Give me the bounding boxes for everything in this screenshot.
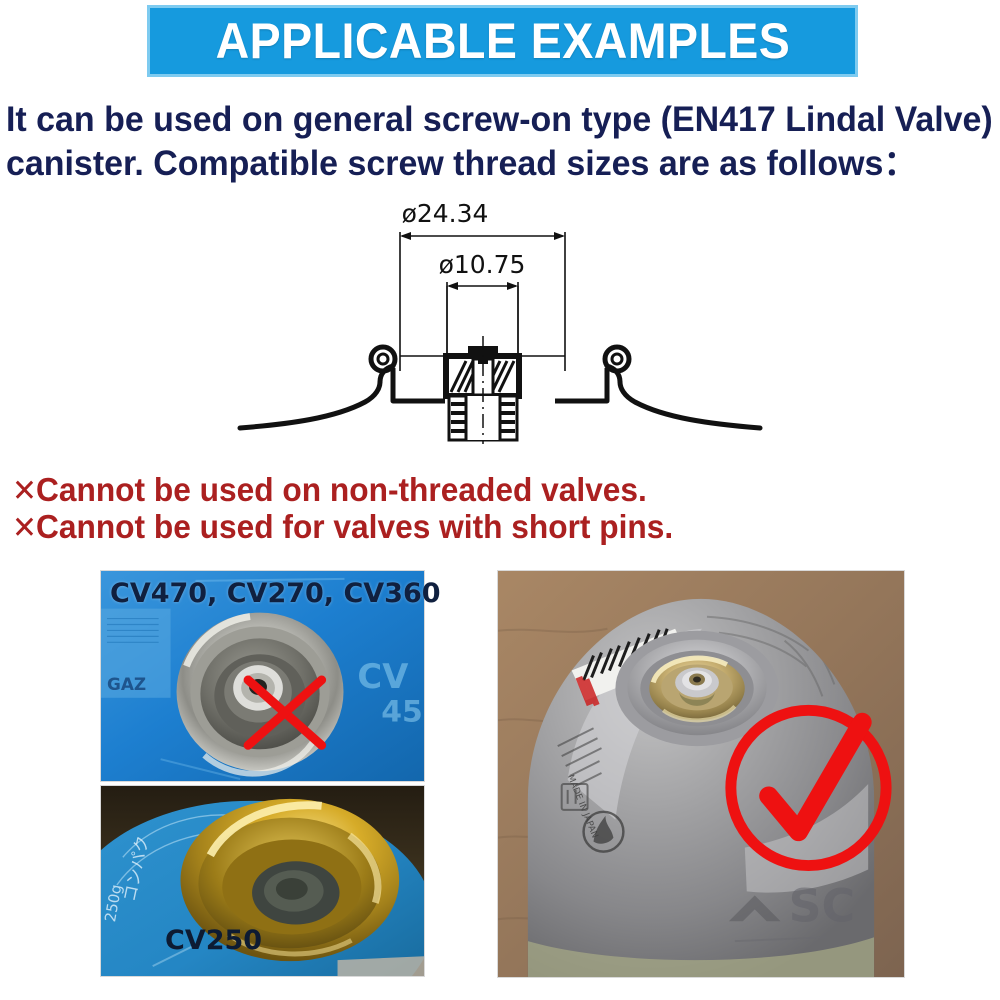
page-title: APPLICABLE EXAMPLES <box>215 12 790 70</box>
warning-list: ✕Cannot be used on non-threaded valves. … <box>12 472 912 546</box>
diagram-svg: ø24.34 ø10.75 <box>230 196 770 446</box>
photo-incompatible-cv250: コンパク 250g <box>100 785 425 977</box>
intro-paragraph: It can be used on general screw-on type … <box>6 98 996 186</box>
arrow-left-outer <box>400 232 411 240</box>
photo-right-svg: MADE IN JAPAN SC <box>498 571 904 977</box>
cross-mark-icon: ✕ <box>12 510 36 545</box>
side-text-45: 45 <box>381 695 422 730</box>
arrow-left-inner <box>447 282 458 290</box>
intro-line-1: It can be used on general screw-on type … <box>6 98 966 142</box>
warning-text-1: Cannot be used on non-threaded valves. <box>36 471 647 508</box>
brand-text: GAZ <box>107 674 146 694</box>
valve-technical-diagram: ø24.34 ø10.75 <box>230 196 770 446</box>
warning-line-1: ✕Cannot be used on non-threaded valves. <box>12 472 876 509</box>
warning-line-2: ✕Cannot be used for valves with short pi… <box>12 509 876 546</box>
dimension-outer-label: ø24.34 <box>402 199 489 228</box>
photo-incompatible-cv-multi: GAZ CV 45 <box>100 570 425 782</box>
arrow-right-outer <box>554 232 565 240</box>
svg-text:SC: SC <box>789 879 856 932</box>
warning-text-2: Cannot be used for valves with short pin… <box>36 508 673 545</box>
photo-left-bottom-svg: コンパク 250g <box>101 786 424 976</box>
header-banner: APPLICABLE EXAMPLES <box>150 8 855 74</box>
dimension-inner-label: ø10.75 <box>439 250 526 279</box>
arrow-right-inner <box>507 282 518 290</box>
photo-left-top-svg: GAZ CV 45 <box>101 571 424 781</box>
cross-mark-icon: ✕ <box>12 473 36 508</box>
intro-line-2: canister. Compatible screw thread sizes … <box>6 142 966 186</box>
side-text-cv: CV <box>357 657 408 696</box>
photo-compatible-canister: MADE IN JAPAN SC <box>497 570 905 978</box>
valve-cross-section <box>240 286 760 444</box>
